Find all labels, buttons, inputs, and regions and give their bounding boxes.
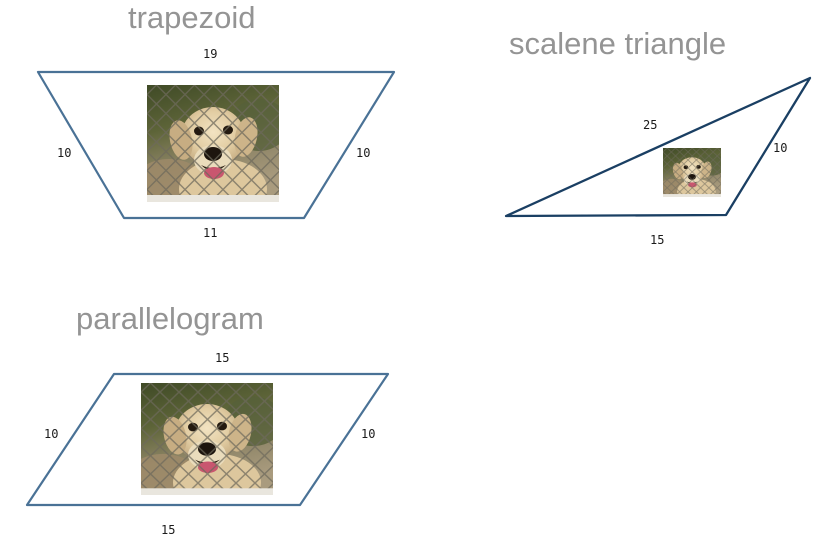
shape-title-scalene-triangle: scalene triangle [509, 28, 726, 59]
labrador-fence-image [147, 85, 279, 202]
edge-label-parallelogram-left: 10 [44, 428, 58, 440]
dog-photo-parallelogram [141, 383, 273, 495]
edge-label-trapezoid-top: 19 [203, 48, 217, 60]
edge-label-parallelogram-top: 15 [215, 352, 229, 364]
labrador-fence-image [663, 148, 721, 197]
edge-label-triangle-hypotenuse: 25 [643, 119, 657, 131]
edge-label-parallelogram-right: 10 [361, 428, 375, 440]
shape-title-parallelogram: parallelogram [76, 303, 264, 334]
edge-label-trapezoid-left: 10 [57, 147, 71, 159]
dog-photo-trapezoid [147, 85, 279, 202]
figure-trapezoid: trapezoid [0, 0, 430, 260]
edge-label-trapezoid-right: 10 [356, 147, 370, 159]
edge-label-parallelogram-bottom: 15 [161, 524, 175, 536]
edge-label-triangle-bottom: 15 [650, 234, 664, 246]
dog-photo-triangle [663, 148, 721, 197]
figure-parallelogram: parallelogram [0, 290, 430, 543]
edge-label-trapezoid-bottom: 11 [203, 227, 217, 239]
scalene-triangle-polygon [506, 78, 810, 216]
edge-label-triangle-right: 10 [773, 142, 787, 154]
figure-scalene-triangle: scalene triangle [480, 0, 816, 260]
shape-title-trapezoid: trapezoid [128, 2, 256, 33]
labrador-fence-image [141, 383, 273, 495]
